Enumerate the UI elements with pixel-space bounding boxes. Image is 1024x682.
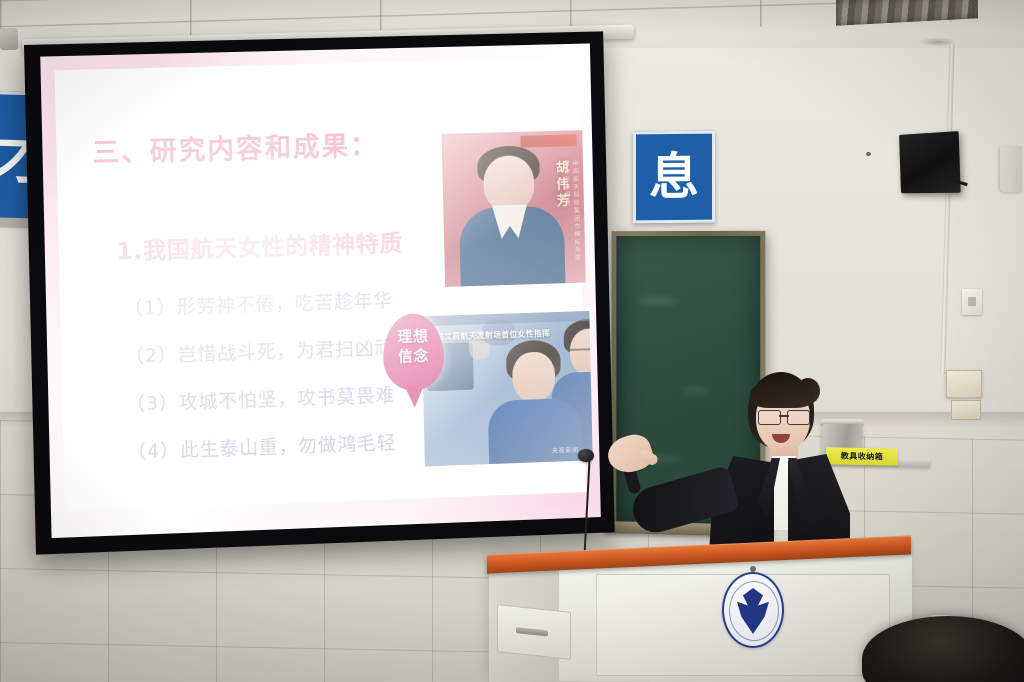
wall-box xyxy=(946,370,982,398)
chalk-smudge xyxy=(638,296,677,306)
slide-title: 三、研究内容和成果： xyxy=(92,124,379,170)
badge-line-1: 理想 xyxy=(383,326,444,348)
slide-controlroom-photo: 中国文昌航天发射场首位女性指挥 央视新闻 xyxy=(421,311,592,466)
presenter-glasses xyxy=(758,410,810,424)
screen-roller-cap xyxy=(0,28,18,50)
wall-box-secondary xyxy=(951,400,981,420)
presentation-slide: 三、研究内容和成果： 1.我国航天女性的精神特质 （1）形劳神不倦，吃苦趁年华 … xyxy=(40,43,601,538)
controlroom-light-wash xyxy=(421,311,592,466)
presenter-fringe xyxy=(750,380,814,408)
classroom-scene: 才 息 教具收纳箱 三、研究内容和成果： 1.我国航天女性的精神特质 （1）形劳… xyxy=(0,0,1024,682)
wall-speaker-icon xyxy=(899,131,961,193)
glasses-lens-left xyxy=(758,410,781,425)
school-emblem xyxy=(722,572,784,648)
list-item: （4）此生泰山重，勿做鸿毛轻 xyxy=(127,428,397,464)
glasses-bridge xyxy=(779,415,789,417)
projection-screen[interactable]: 三、研究内容和成果： 1.我国航天女性的精神特质 （1）形劳神不倦，吃苦趁年华 … xyxy=(24,31,615,554)
list-item: （2）岂惜战斗死，为君扫凶顽 xyxy=(125,333,395,369)
portrait-light-wash xyxy=(442,130,586,287)
microphone-icon[interactable] xyxy=(578,449,594,462)
list-item: （3）攻城不怕坚，攻书莫畏难 xyxy=(126,380,396,416)
presenter xyxy=(612,368,842,568)
drawer-handle-icon[interactable] xyxy=(516,627,548,636)
glasses-lens-right xyxy=(787,410,810,425)
wall-hole xyxy=(866,152,871,156)
wall-sign-right: 息 xyxy=(633,131,715,224)
badge-line-2: 信念 xyxy=(383,345,444,367)
wall-bracket xyxy=(1000,146,1022,192)
wall-outlet[interactable] xyxy=(962,289,982,315)
podium-drawer[interactable] xyxy=(497,604,571,660)
slide-portrait-photo: 胡伟芳 中国航天科技集团巾帼标兵荣誉称号获得者 xyxy=(442,130,586,287)
slide-bullet-list: （1）形劳神不倦，吃苦趁年华 （2）岂惜战斗死，为君扫凶顽 （3）攻城不怕坚，攻… xyxy=(124,286,397,486)
